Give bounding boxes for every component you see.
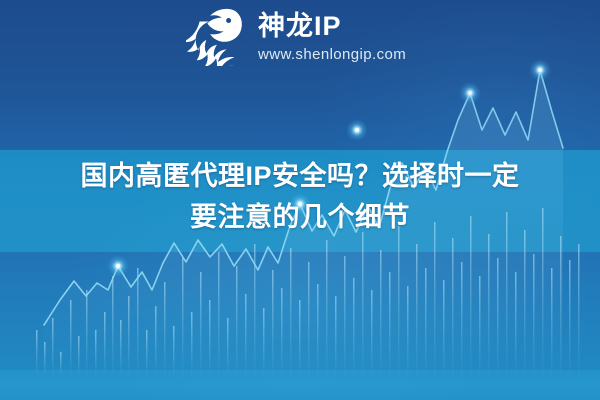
brand-name: 神龙IP [258, 13, 406, 40]
headline-line-2: 要注意的几个细节 [14, 197, 586, 238]
promo-banner: 神龙IP www.shenlongip.com 国内高匿代理IP安全吗？选择时一… [0, 0, 600, 400]
dragon-mark-icon [186, 6, 248, 66]
background-band-bottom [0, 370, 600, 400]
brand-url: www.shenlongip.com [258, 47, 406, 62]
background-band-lower [0, 252, 600, 370]
logo-text-column: 神龙IP www.shenlongip.com [258, 11, 406, 62]
headline: 国内高匿代理IP安全吗？选择时一定 要注意的几个细节 [0, 156, 600, 238]
headline-line-1: 国内高匿代理IP安全吗？选择时一定 [14, 156, 586, 197]
brand-logo: 神龙IP www.shenlongip.com [186, 6, 406, 66]
